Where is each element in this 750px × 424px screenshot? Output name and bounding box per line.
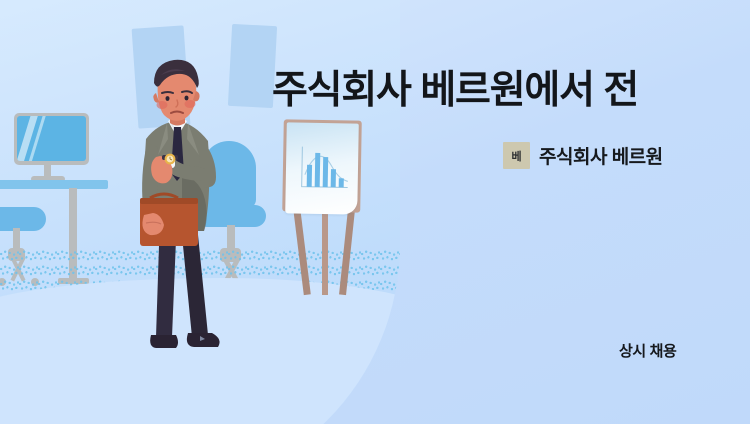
office-illustration <box>0 0 400 424</box>
banner-canvas: 주식회사 베르원에서 전 베 주식회사 베르원 상시 채용 <box>0 0 750 424</box>
page-title: 주식회사 베르원에서 전 <box>272 66 750 116</box>
businessman-figure <box>120 55 240 365</box>
office-chair-left-seat <box>0 207 46 231</box>
hiring-status-label: 상시 채용 <box>619 340 676 361</box>
company-identity[interactable]: 베 주식회사 베르원 <box>503 142 663 169</box>
easel-paper-sheet <box>285 122 359 214</box>
company-name-label: 주식회사 베르원 <box>539 142 663 169</box>
company-logo-badge: 베 <box>503 142 530 169</box>
desk-surface <box>0 180 108 189</box>
monitor-icon <box>14 113 89 165</box>
bar-chart-icon <box>298 145 351 194</box>
easel-leg <box>322 200 328 295</box>
